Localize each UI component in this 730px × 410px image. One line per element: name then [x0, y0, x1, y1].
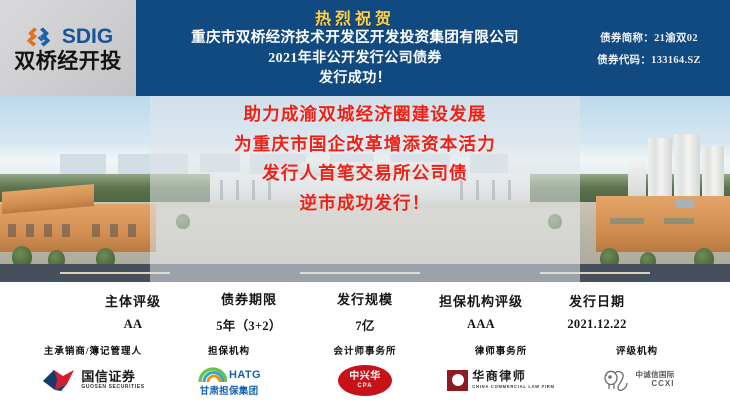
law-firm-cn-name: 华商律师 [472, 370, 526, 382]
logo-cn-text: 双桥经开投 [14, 51, 122, 72]
bond-short-name: 债券简称：21渝双02 [600, 30, 698, 45]
guosen-securities-logo: 国信证券 GUOSEN SECURITIES [41, 360, 144, 400]
column-header: 债券期限 [221, 289, 277, 308]
table-cell-guarantor-rating: 担保机构评级 AAA [423, 291, 539, 332]
zhongxinghua-cpa-logo: 中兴华 CPA [338, 360, 392, 400]
institution-role-label: 评级机构 [616, 343, 658, 357]
column-header: 发行规模 [337, 289, 393, 308]
column-header: 发行日期 [569, 291, 625, 310]
header-title-block: 热烈祝贺 重庆市双桥经济技术开发区开发投资集团有限公司 2021年非公开发行公司… [136, 0, 574, 96]
slogan-line-2: 为重庆市国企改革增添资本活力 [234, 137, 496, 155]
ccxi-text-group: 中诚信国际 CCXI [636, 371, 675, 388]
institution-role-label: 会计师事务所 [333, 343, 396, 357]
hatg-gansu-guarantee-logo: HATG 甘肃担保集团 [197, 360, 261, 400]
rainbow-arc-icon [197, 363, 227, 383]
guosen-logo-group: 国信证券 GUOSEN SECURITIES [41, 367, 144, 393]
participating-institutions: 主承销商/簿记管理人 国信证券 GUOSEN SECURITIES 担保机构 [0, 339, 730, 410]
column-value: AA [124, 317, 143, 332]
header-banner: 热烈祝贺 重庆市双桥经济技术开发区开发投资集团有限公司 2021年非公开发行公司… [136, 0, 730, 96]
ccxi-logo-group: 中诚信国际 CCXI [600, 368, 675, 392]
huashang-logo-group: 华商律师 CHINA COMMERCIAL LAW FIRM [447, 370, 554, 391]
rating-agency-en-name: CCXI [651, 380, 674, 389]
institution-underwriter: 主承销商/簿记管理人 国信证券 GUOSEN SECURITIES [25, 343, 161, 400]
logo-top-row: SDIG [23, 25, 113, 49]
law-firm-en-name: CHINA COMMERCIAL LAW FIRM [472, 385, 554, 389]
column-value: 5年（3+2） [216, 315, 281, 334]
guosen-cn-name: 国信证券 [81, 370, 135, 383]
slogan-line-1: 助力成渝双城经济圈建设发展 [243, 107, 486, 125]
poster-header: SDIG 双桥经开投 热烈祝贺 重庆市双桥经济技术开发区开发投资集团有限公司 2… [0, 0, 730, 96]
cpa-cn-name: 中兴华 [349, 372, 381, 382]
slogan-line-3: 发行人首笔交易所公司债 [262, 166, 468, 184]
issuer-logo-box: SDIG 双桥经开投 [0, 0, 136, 96]
bond-info-block: 债券简称：21渝双02 债券代码：133164.SZ [574, 0, 730, 96]
issuer-name: 重庆市双桥经济技术开发区开发投资集团有限公司 [191, 28, 519, 49]
huashang-law-firm-logo: 华商律师 CHINA COMMERCIAL LAW FIRM [447, 360, 554, 400]
institution-role-label: 担保机构 [208, 343, 250, 357]
bond-code: 债券代码：133164.SZ [597, 52, 701, 67]
column-header: 担保机构评级 [439, 291, 523, 310]
bond-issuance-poster: SDIG 双桥经开投 热烈祝贺 重庆市双桥经济技术开发区开发投资集团有限公司 2… [0, 0, 730, 410]
elephant-icon [600, 368, 632, 392]
column-value: 2021.12.22 [567, 317, 626, 332]
table-cell-issuer-rating: 主体评级 AA [75, 291, 191, 332]
sdig-interlock-icon [23, 25, 57, 49]
institution-guarantor: 担保机构 HATG 甘肃担保集团 [161, 343, 297, 400]
huashang-circle-icon [452, 374, 464, 386]
congratulations-text: 热烈祝贺 [315, 10, 395, 28]
cpa-en-name: CPA [357, 383, 372, 389]
hatg-en-name: HATG [229, 369, 261, 381]
hero-slogan-block: 助力成渝双城经济圈建设发展 为重庆市国企改革增添资本活力 发行人首笔交易所公司债… [0, 96, 730, 282]
bond-title: 2021年非公开发行公司债券 [268, 49, 442, 69]
huashang-text-group: 华商律师 CHINA COMMERCIAL LAW FIRM [472, 370, 554, 389]
huashang-square-icon [447, 370, 468, 391]
column-value: 7亿 [355, 315, 374, 334]
table-cell-tenor: 债券期限 5年（3+2） [191, 289, 307, 334]
cpa-seal-icon: 中兴华 CPA [338, 365, 392, 396]
institution-rating-agency: 评级机构 中诚信国际 CCXI [569, 343, 705, 400]
table-cell-size: 发行规模 7亿 [307, 289, 423, 334]
guosen-mark-icon [41, 367, 77, 393]
institution-role-label: 律师事务所 [475, 343, 528, 357]
guosen-en-name: GUOSEN SECURITIES [81, 385, 144, 390]
institution-role-label: 主承销商/簿记管理人 [44, 343, 142, 357]
cityscape-rendering: 助力成渝双城经济圈建设发展 为重庆市国企改革增添资本活力 发行人首笔交易所公司债… [0, 96, 730, 282]
bond-terms-table: 主体评级 AA 债券期限 5年（3+2） 发行规模 7亿 担保机构评级 AAA … [0, 282, 730, 339]
issuance-success-text: 发行成功！ [319, 69, 391, 89]
hatg-logo-group: HATG 甘肃担保集团 [197, 363, 261, 397]
ccxi-elephant-logo: 中诚信国际 CCXI [600, 360, 675, 400]
table-cell-issue-date: 发行日期 2021.12.22 [539, 291, 655, 332]
institution-accountant: 会计师事务所 中兴华 CPA [297, 343, 433, 400]
guosen-text-group: 国信证券 GUOSEN SECURITIES [81, 370, 144, 390]
hatg-cn-name: 甘肃担保集团 [200, 383, 259, 397]
logo-en-text: SDIG [62, 26, 113, 47]
slogan-line-4: 逆市成功发行！ [300, 196, 431, 214]
column-value: AAA [467, 317, 495, 332]
hatg-top-row: HATG [197, 363, 261, 383]
column-header: 主体评级 [105, 291, 161, 310]
institution-law-firm: 律师事务所 华商律师 CHINA COMMERCIAL LAW FIRM [433, 343, 569, 400]
